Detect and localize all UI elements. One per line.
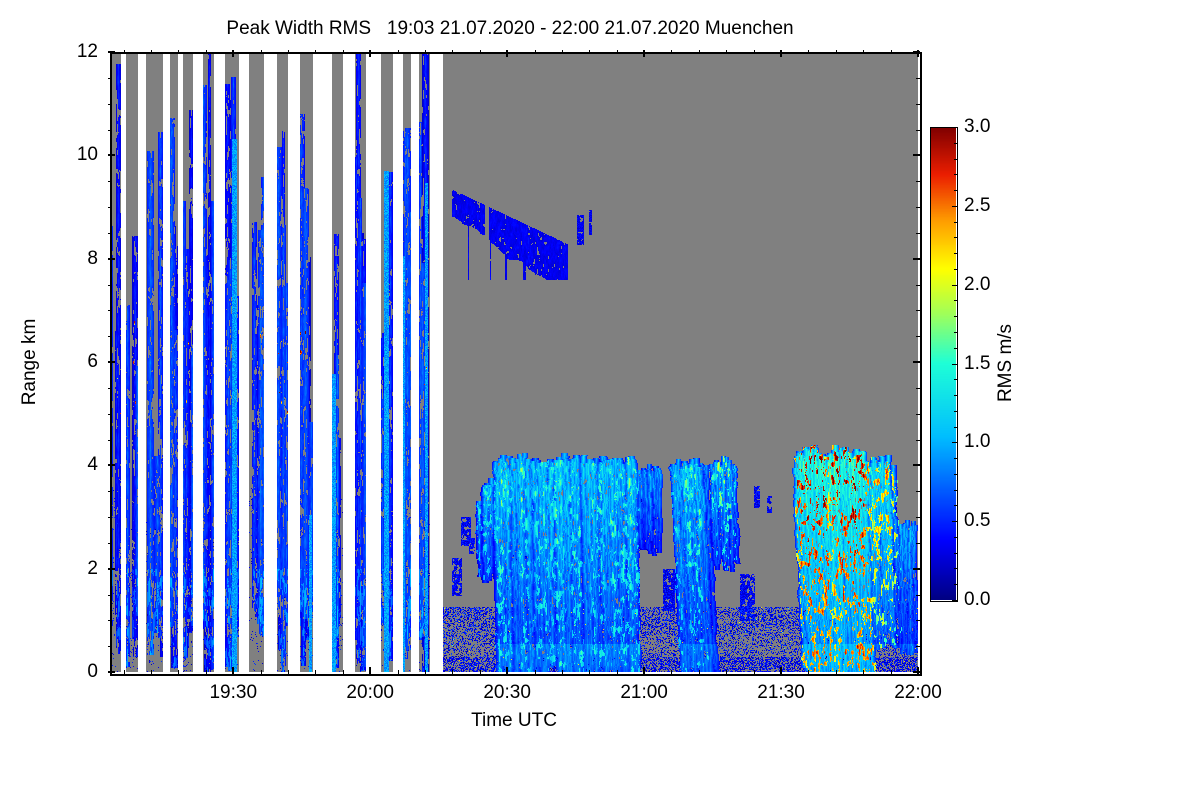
y-minor-tick: [108, 207, 112, 208]
y-major-tick-right: [913, 671, 920, 673]
y-minor-tick-right: [916, 233, 920, 234]
y-minor-tick-right: [916, 310, 920, 311]
y-minor-tick-right: [916, 646, 920, 647]
y-minor-tick-right: [916, 440, 920, 441]
y-minor-tick-right: [916, 336, 920, 337]
x-minor-tick-top: [178, 50, 179, 54]
colorbar-tick-label: 0.5: [964, 510, 990, 532]
colorbar-minor-tick: [954, 332, 957, 333]
colorbar-tick-label: 2.5: [964, 195, 990, 217]
x-minor-tick-top: [699, 50, 700, 54]
y-minor-tick-right: [916, 414, 920, 415]
x-minor-tick-top: [535, 50, 536, 54]
y-minor-tick: [108, 104, 112, 105]
y-major-tick-right: [913, 568, 920, 570]
x-minor-tick-top: [480, 50, 481, 54]
x-minor-tick-top: [206, 50, 207, 54]
y-tick-label: 8: [87, 248, 98, 270]
y-tick-label: 12: [77, 41, 98, 63]
colorbar-label: RMS m/s: [995, 324, 1017, 402]
y-tick-label: 4: [87, 454, 98, 476]
y-minor-tick-right: [916, 78, 920, 79]
y-minor-tick: [108, 620, 112, 621]
x-major-tick-top: [232, 50, 234, 57]
y-minor-tick-right: [916, 491, 920, 492]
x-minor-tick: [480, 670, 481, 674]
colorbar-minor-tick: [954, 600, 957, 601]
radar-figure: Peak Width RMS 19:03 21.07.2020 - 22:00 …: [0, 0, 1200, 800]
x-minor-tick-top: [261, 50, 262, 54]
colorbar[interactable]: [930, 127, 956, 600]
y-minor-tick-right: [916, 517, 920, 518]
x-major-tick-top: [506, 50, 508, 57]
y-minor-tick: [108, 440, 112, 441]
colorbar-minor-tick: [954, 364, 957, 365]
colorbar-minor-tick: [954, 159, 957, 160]
y-minor-tick-right: [916, 104, 920, 105]
y-major-tick: [108, 568, 115, 570]
colorbar-tick-label: 3.0: [964, 116, 990, 138]
y-major-tick: [108, 361, 115, 363]
x-tick-label: 21:00: [620, 682, 668, 704]
y-major-tick-right: [913, 464, 920, 466]
y-major-tick-right: [913, 154, 920, 156]
x-minor-tick: [891, 670, 892, 674]
x-minor-tick-top: [562, 50, 563, 54]
colorbar-minor-tick: [954, 143, 957, 144]
colorbar-minor-tick: [954, 269, 957, 270]
x-tick-label: 19:30: [209, 682, 257, 704]
x-minor-tick: [315, 670, 316, 674]
colorbar-minor-tick: [954, 427, 957, 428]
x-minor-tick-top: [891, 50, 892, 54]
x-minor-tick: [808, 670, 809, 674]
colorbar-minor-tick: [954, 442, 957, 443]
x-minor-tick: [178, 670, 179, 674]
colorbar-minor-tick: [954, 316, 957, 317]
colorbar-tick-label: 1.0: [964, 431, 990, 453]
y-minor-tick-right: [916, 595, 920, 596]
x-minor-tick: [863, 670, 864, 674]
colorbar-minor-tick: [954, 584, 957, 585]
x-minor-tick-top: [343, 50, 344, 54]
x-minor-tick: [836, 670, 837, 674]
colorbar-minor-tick: [954, 521, 957, 522]
y-minor-tick: [108, 233, 112, 234]
x-major-tick: [369, 667, 371, 674]
y-tick-label: 0: [87, 661, 98, 683]
colorbar-minor-tick: [954, 222, 957, 223]
y-minor-tick: [108, 285, 112, 286]
x-major-tick: [780, 667, 782, 674]
heatmap-canvas[interactable]: [110, 52, 918, 672]
x-minor-tick: [754, 670, 755, 674]
colorbar-minor-tick: [954, 253, 957, 254]
x-minor-tick-top: [398, 50, 399, 54]
x-minor-tick-top: [671, 50, 672, 54]
colorbar-tick-label: 1.5: [964, 353, 990, 375]
x-tick-label: 22:00: [894, 682, 942, 704]
y-tick-label: 2: [87, 558, 98, 580]
x-minor-tick: [425, 670, 426, 674]
x-minor-tick: [151, 670, 152, 674]
x-major-tick-top: [643, 50, 645, 57]
y-minor-tick: [108, 388, 112, 389]
x-minor-tick: [261, 670, 262, 674]
colorbar-minor-tick: [954, 537, 957, 538]
y-minor-tick-right: [916, 388, 920, 389]
colorbar-minor-tick: [954, 348, 957, 349]
x-minor-tick: [398, 670, 399, 674]
y-major-tick-right: [913, 361, 920, 363]
y-minor-tick-right: [916, 181, 920, 182]
y-minor-tick: [108, 78, 112, 79]
x-minor-tick: [124, 670, 125, 674]
x-minor-tick: [726, 670, 727, 674]
x-minor-tick: [671, 670, 672, 674]
x-minor-tick-top: [836, 50, 837, 54]
y-minor-tick: [108, 595, 112, 596]
colorbar-minor-tick: [954, 411, 957, 412]
colorbar-minor-tick: [954, 190, 957, 191]
y-axis-label: Range km: [19, 319, 41, 406]
x-minor-tick-top: [808, 50, 809, 54]
page-title: Peak Width RMS 19:03 21.07.2020 - 22:00 …: [0, 18, 1020, 40]
x-minor-tick: [589, 670, 590, 674]
x-minor-tick-top: [754, 50, 755, 54]
y-major-tick-right: [913, 51, 920, 53]
x-minor-tick-top: [124, 50, 125, 54]
x-major-tick: [643, 667, 645, 674]
x-minor-tick: [452, 670, 453, 674]
y-tick-label: 6: [87, 351, 98, 373]
x-axis-label: Time UTC: [110, 710, 918, 732]
x-major-tick-top: [780, 50, 782, 57]
y-minor-tick: [108, 543, 112, 544]
colorbar-minor-tick: [954, 300, 957, 301]
y-minor-tick: [108, 646, 112, 647]
x-minor-tick: [206, 670, 207, 674]
x-minor-tick-top: [315, 50, 316, 54]
colorbar-minor-tick: [954, 553, 957, 554]
x-minor-tick-top: [425, 50, 426, 54]
x-minor-tick-top: [151, 50, 152, 54]
x-major-tick: [232, 667, 234, 674]
y-major-tick: [108, 671, 115, 673]
x-minor-tick: [699, 670, 700, 674]
y-minor-tick: [108, 130, 112, 131]
y-minor-tick: [108, 491, 112, 492]
x-minor-tick: [535, 670, 536, 674]
colorbar-minor-tick: [954, 458, 957, 459]
y-major-tick: [108, 258, 115, 260]
y-minor-tick: [108, 181, 112, 182]
y-minor-tick-right: [916, 130, 920, 131]
colorbar-minor-tick: [954, 206, 957, 207]
colorbar-minor-tick: [954, 379, 957, 380]
y-minor-tick: [108, 414, 112, 415]
colorbar-minor-tick: [954, 474, 957, 475]
x-minor-tick-top: [863, 50, 864, 54]
y-major-tick: [108, 464, 115, 466]
colorbar-minor-tick: [954, 568, 957, 569]
x-minor-tick: [343, 670, 344, 674]
colorbar-minor-tick: [954, 127, 957, 128]
x-minor-tick-top: [617, 50, 618, 54]
y-minor-tick-right: [916, 285, 920, 286]
x-minor-tick-top: [452, 50, 453, 54]
colorbar-minor-tick: [954, 490, 957, 491]
y-minor-tick: [108, 517, 112, 518]
x-major-tick-top: [369, 50, 371, 57]
colorbar-minor-tick: [954, 174, 957, 175]
x-minor-tick-top: [288, 50, 289, 54]
x-tick-label: 20:30: [483, 682, 531, 704]
y-minor-tick: [108, 336, 112, 337]
x-major-tick: [506, 667, 508, 674]
colorbar-minor-tick: [954, 237, 957, 238]
colorbar-tick-label: 2.0: [964, 274, 990, 296]
colorbar-minor-tick: [954, 285, 957, 286]
colorbar-minor-tick: [954, 395, 957, 396]
y-major-tick: [108, 154, 115, 156]
colorbar-tick-label: 0.0: [964, 589, 990, 611]
y-minor-tick-right: [916, 543, 920, 544]
y-minor-tick-right: [916, 207, 920, 208]
y-minor-tick-right: [916, 620, 920, 621]
y-tick-label: 10: [77, 144, 98, 166]
y-major-tick-right: [913, 258, 920, 260]
x-tick-label: 21:30: [757, 682, 805, 704]
plot-axes[interactable]: [110, 52, 918, 672]
x-minor-tick-top: [589, 50, 590, 54]
x-tick-label: 20:00: [346, 682, 394, 704]
x-minor-tick: [288, 670, 289, 674]
y-major-tick: [108, 51, 115, 53]
x-minor-tick: [562, 670, 563, 674]
colorbar-minor-tick: [954, 505, 957, 506]
x-minor-tick: [617, 670, 618, 674]
x-minor-tick-top: [726, 50, 727, 54]
y-minor-tick: [108, 310, 112, 311]
